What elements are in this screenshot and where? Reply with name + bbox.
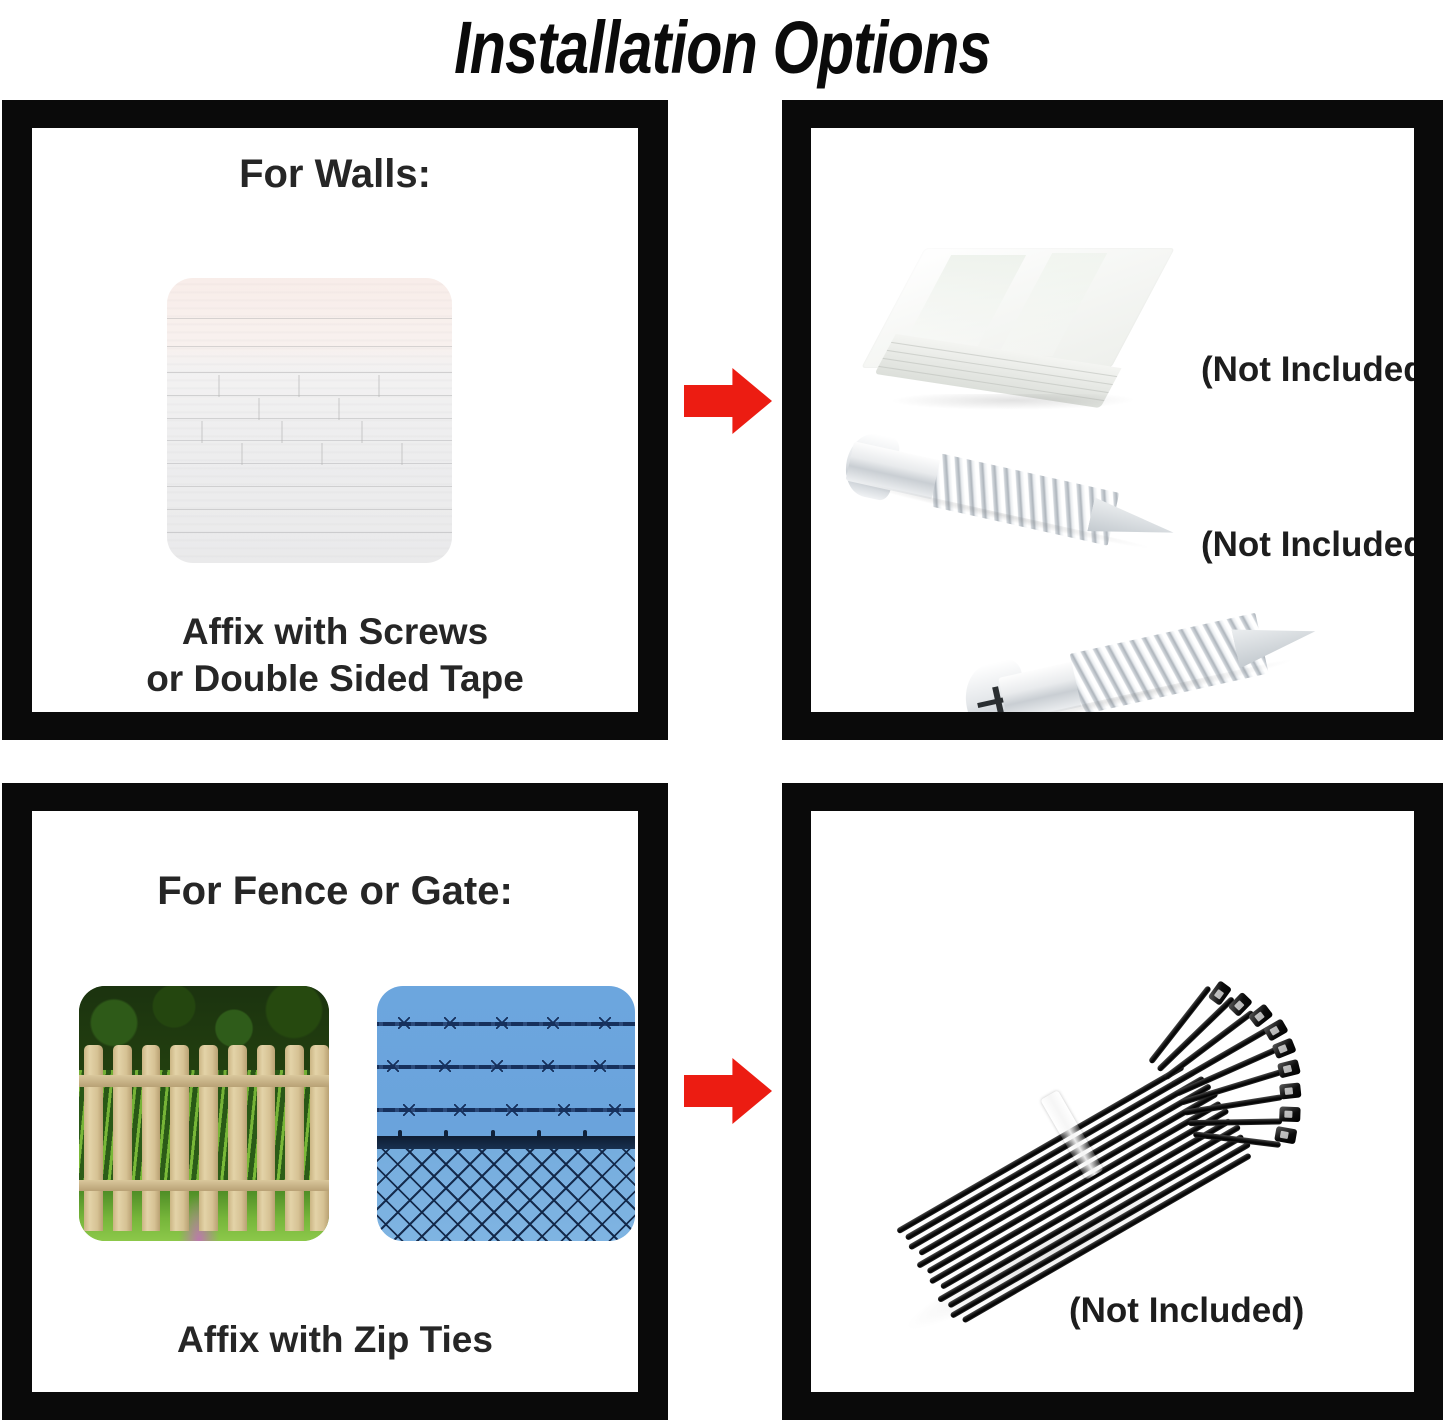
right-arrow-icon-bottom <box>684 1058 772 1124</box>
picket-fence-thumbnail <box>79 986 329 1241</box>
walls-caption-line2: or Double Sided Tape <box>32 655 638 702</box>
panel-zip-ties-content: (Not Included) <box>811 811 1414 1392</box>
panel-zip-ties: (Not Included) <box>782 783 1443 1420</box>
ziptie-not-included-label: (Not Included) <box>1069 1291 1304 1331</box>
for-walls-heading: For Walls: <box>32 152 638 197</box>
fence-caption: Affix with Zip Ties <box>32 1316 638 1363</box>
screws-not-included-label: (Not Included) <box>1201 525 1414 565</box>
wood-screw-lower-image <box>965 612 1307 712</box>
double-sided-tape-image <box>871 248 1151 423</box>
for-fence-heading: For Fence or Gate: <box>32 869 638 914</box>
walls-caption-line1: Affix with Screws <box>32 608 638 655</box>
barbed-chainlink-fence-thumbnail <box>377 986 635 1241</box>
white-brick-wall-image <box>167 278 452 563</box>
tape-not-included-label: (Not Included) <box>1201 350 1414 390</box>
panel-for-walls: For Walls: Affix with S <box>2 100 668 740</box>
panel-for-walls-content: For Walls: Affix with S <box>32 128 638 712</box>
wood-screw-upper-image <box>846 441 1172 550</box>
panel-for-fence-or-gate: For Fence or Gate: <box>2 783 668 1420</box>
panel-hardware-content: (Not Included) (Not Included) <box>811 128 1414 712</box>
page-title: Installation Options <box>454 11 991 85</box>
panel-for-fence-content: For Fence or Gate: <box>32 811 638 1392</box>
zip-ties-bundle-image <box>866 931 1336 1331</box>
panel-hardware: (Not Included) (Not Included) <box>782 100 1443 740</box>
page-header: Installation Options <box>0 0 1445 96</box>
right-arrow-icon <box>684 368 772 434</box>
